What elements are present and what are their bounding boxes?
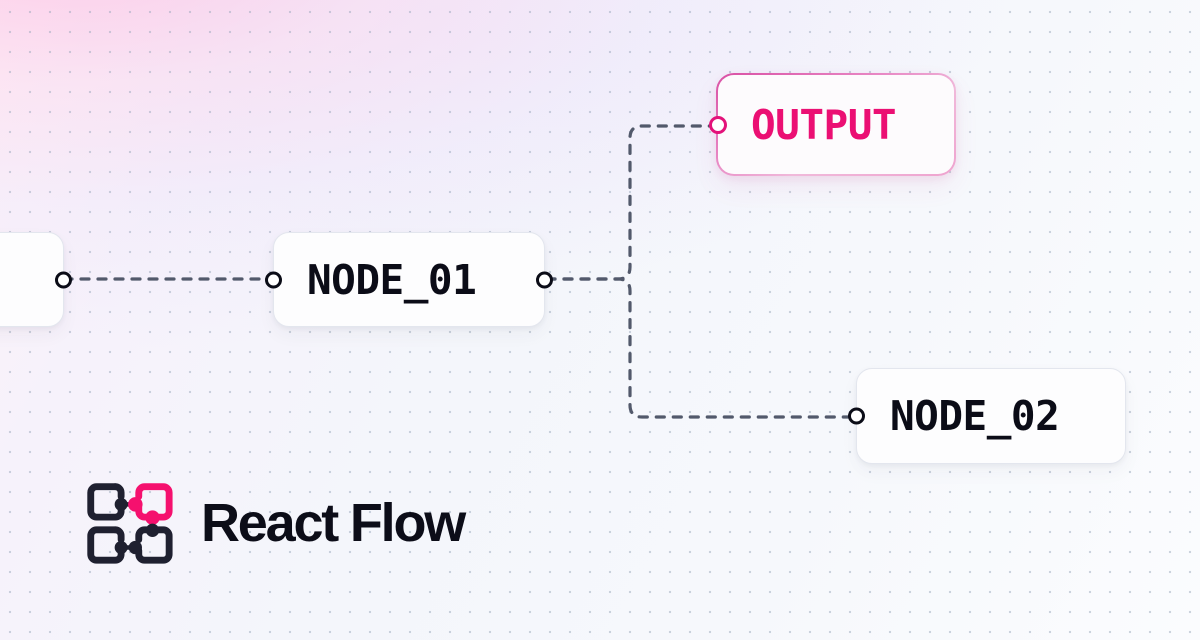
handle-node-02-target[interactable] (848, 408, 865, 425)
handle-output-target[interactable] (709, 116, 727, 134)
node-node-01[interactable]: NODE_01 (273, 232, 545, 327)
react-flow-wordmark: React Flow (201, 492, 464, 554)
node-output[interactable]: OUTPUT (716, 73, 956, 176)
node-node-02-label: NODE_02 (890, 392, 1059, 440)
react-flow-brand-lockup: React Flow (78, 474, 464, 572)
node-output-label: OUTPUT (751, 101, 896, 149)
handle-node-01-target[interactable] (265, 271, 282, 288)
react-flow-logo-icon (78, 474, 176, 572)
node-node-02[interactable]: NODE_02 (856, 368, 1126, 464)
edge-node01-node02[interactable] (547, 279, 854, 417)
edge-node01-output[interactable] (547, 126, 714, 279)
handle-node-01-source[interactable] (536, 271, 553, 288)
handle-source-right[interactable] (55, 271, 72, 288)
node-source-clipped[interactable] (0, 232, 64, 327)
node-node-01-label: NODE_01 (307, 256, 476, 304)
flow-canvas[interactable]: NODE_01 OUTPUT NODE_02 (0, 0, 1200, 640)
